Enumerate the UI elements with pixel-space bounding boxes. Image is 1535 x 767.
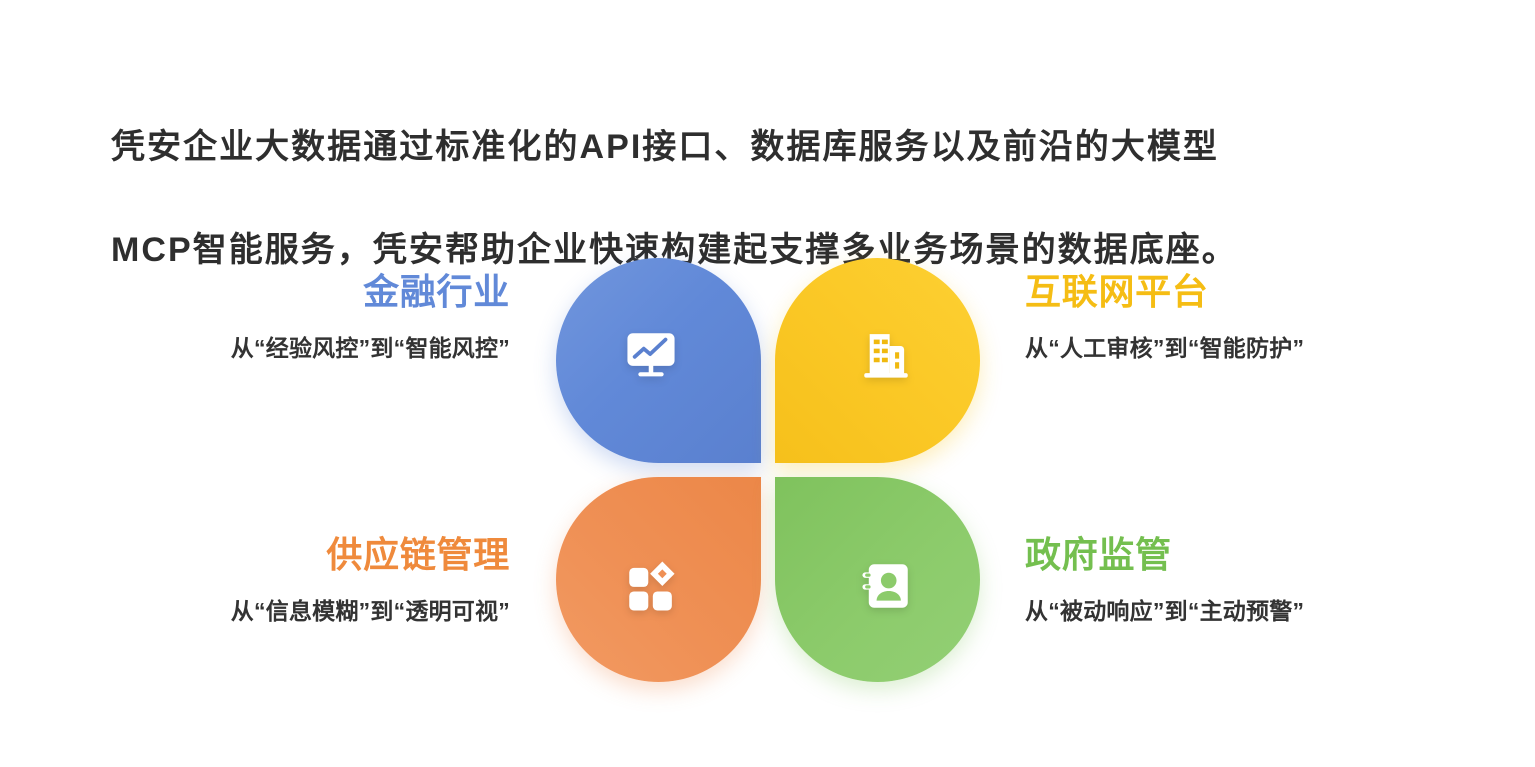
- petal-supply-chain[interactable]: [556, 477, 761, 682]
- petal-government[interactable]: [775, 477, 980, 682]
- quadrant-subtitle-government: 从“被动响应”到“主动预警”: [1025, 597, 1455, 627]
- quadrant-caption-financial: 金融行业 从“经验风控”到“智能风控”: [80, 272, 510, 363]
- page-headline: 凭安企业大数据通过标准化的API接口、数据库服务以及前沿的大模型 MCP智能服务…: [88, 70, 1458, 277]
- headline-line-1: 凭安企业大数据通过标准化的API接口、数据库服务以及前沿的大模型: [111, 128, 1219, 166]
- quadrant-title-supply-chain: 供应链管理: [80, 535, 510, 575]
- quadrant-caption-internet-platform: 互联网平台 从“人工审核”到“智能防护”: [1025, 272, 1455, 363]
- office-building-icon: [857, 326, 915, 384]
- quadrant-petal-cluster: [556, 258, 980, 682]
- quadrant-subtitle-supply-chain: 从“信息模糊”到“透明可视”: [80, 597, 510, 627]
- petal-internet-platform[interactable]: [775, 258, 980, 463]
- monitor-chart-icon: [622, 326, 680, 384]
- quadrant-title-financial: 金融行业: [80, 272, 510, 312]
- address-book-icon: [857, 557, 915, 615]
- quadrant-subtitle-financial: 从“经验风控”到“智能风控”: [80, 334, 510, 364]
- quadrant-caption-government: 政府监管 从“被动响应”到“主动预警”: [1025, 535, 1455, 626]
- grid-blocks-icon: [622, 557, 680, 615]
- quadrant-subtitle-internet-platform: 从“人工审核”到“智能防护”: [1025, 334, 1455, 364]
- quadrant-title-government: 政府监管: [1025, 535, 1455, 575]
- petal-financial[interactable]: [556, 258, 761, 463]
- quadrant-caption-supply-chain: 供应链管理 从“信息模糊”到“透明可视”: [80, 535, 510, 626]
- quadrant-title-internet-platform: 互联网平台: [1025, 272, 1455, 312]
